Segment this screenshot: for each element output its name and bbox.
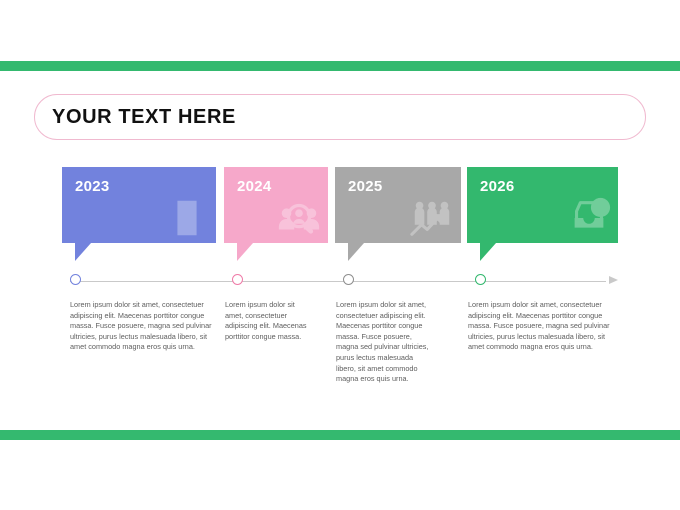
slide-canvas: YOUR TEXT HERE 2023	[0, 0, 680, 510]
bottom-accent-bar	[0, 430, 680, 440]
card-year-label: 2026	[480, 178, 515, 196]
card-tail	[480, 243, 496, 261]
description-2025: Lorem ipsum dolor sit amet, consectetuer…	[336, 300, 430, 385]
timeline-card-2026[interactable]: 2026	[467, 167, 618, 243]
timeline-dot-2025[interactable]	[343, 274, 354, 285]
card-year-label: 2023	[75, 178, 110, 196]
timeline-cards: 2023	[62, 167, 618, 252]
timeline-axis	[62, 280, 618, 282]
timeline-dot-2024[interactable]	[232, 274, 243, 285]
timeline-card-2023[interactable]: 2023	[62, 167, 216, 243]
timeline-dot-2026[interactable]	[475, 274, 486, 285]
description-2026: Lorem ipsum dolor sit amet, consectetuer…	[468, 300, 616, 353]
people-growth-chart-icon	[409, 195, 455, 241]
description-2023: Lorem ipsum dolor sit amet, consectetuer…	[70, 300, 214, 353]
card-year-label: 2024	[237, 178, 272, 196]
office-building-icon	[164, 195, 210, 241]
timeline-arrow-icon	[609, 276, 618, 284]
timeline-line	[70, 281, 606, 282]
card-background: 2025	[335, 167, 461, 243]
card-background: 2023	[62, 167, 216, 243]
description-2024: Lorem ipsum dolor sit amet, consectetuer…	[225, 300, 315, 342]
top-accent-bar	[0, 61, 680, 71]
card-year-label: 2025	[348, 178, 383, 196]
timeline-card-2024[interactable]: 2024	[224, 167, 328, 243]
inbox-check-icon	[566, 195, 612, 241]
timeline-dot-2023[interactable]	[70, 274, 81, 285]
card-background: 2024	[224, 167, 328, 243]
people-search-icon	[276, 195, 322, 241]
timeline-card-2025[interactable]: 2025	[335, 167, 461, 243]
page-title: YOUR TEXT HERE	[52, 103, 236, 131]
card-tail	[237, 243, 253, 261]
card-tail	[75, 243, 91, 261]
card-tail	[348, 243, 364, 261]
card-background: 2026	[467, 167, 618, 243]
